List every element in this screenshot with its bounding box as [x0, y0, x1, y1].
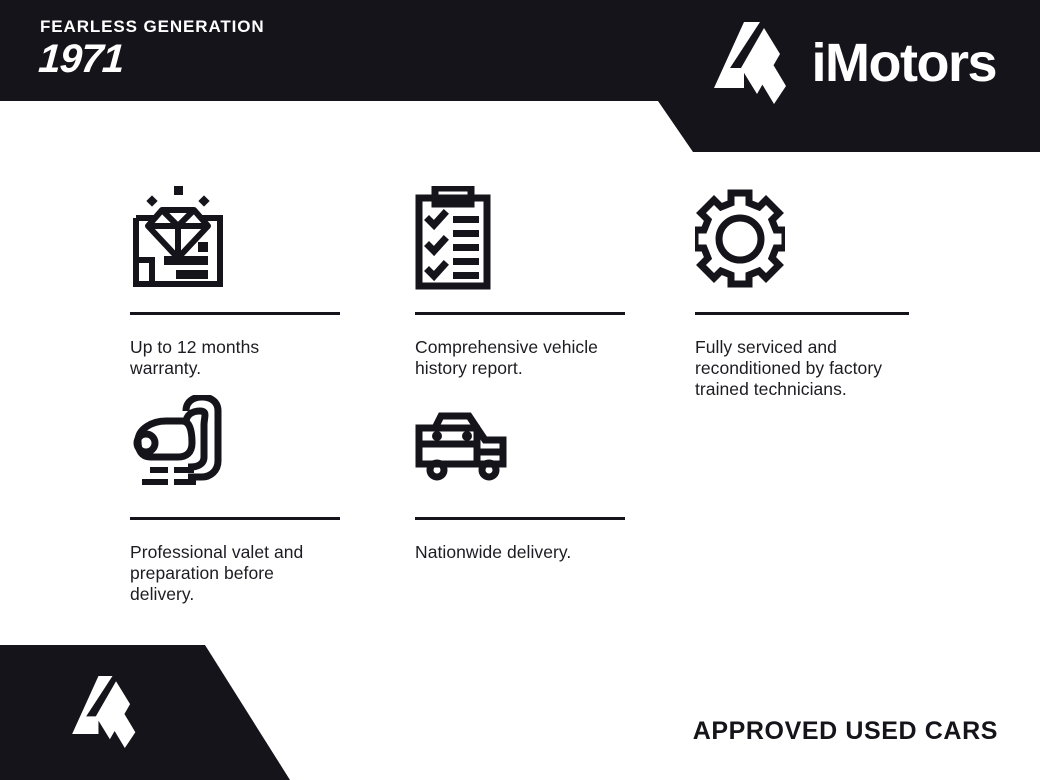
clipboard-checklist-icon: [415, 180, 695, 290]
feature-label: Professional valet and preparation befor…: [130, 542, 335, 605]
feature-divider: [695, 312, 909, 315]
imotors-chevron-logo-icon: [714, 22, 798, 104]
brand-wordmark: iMotors: [812, 36, 997, 90]
feature-label: Up to 12 months warranty.: [130, 337, 335, 379]
campaign-lockup: FEARLESS GENERATION 1971: [40, 18, 265, 79]
feature-item-serviced: Fully serviced and reconditioned by fact…: [695, 180, 930, 385]
campaign-headline: FEARLESS GENERATION: [40, 18, 265, 35]
footer-banner: [0, 645, 300, 780]
feature-grid: Up to 12 months warranty.: [130, 180, 930, 590]
campaign-year: 1971: [37, 39, 264, 79]
brand-logo-lockup[interactable]: iMotors: [714, 22, 997, 104]
gear-icon: [695, 180, 930, 290]
feature-item-warranty: Up to 12 months warranty.: [130, 180, 415, 385]
feature-item-history-report: Comprehensive vehicle history report.: [415, 180, 695, 385]
feature-divider: [415, 517, 625, 520]
feature-item-valet: Professional valet and preparation befor…: [130, 385, 415, 590]
footer-tagline: APPROVED USED CARS: [693, 717, 998, 746]
feature-item-delivery: Nationwide delivery.: [415, 385, 695, 590]
feature-label: Comprehensive vehicle history report.: [415, 337, 620, 379]
feature-label: Fully serviced and reconditioned by fact…: [695, 337, 900, 400]
feature-label: Nationwide delivery.: [415, 542, 620, 563]
feature-divider: [130, 517, 340, 520]
vacuum-cleaner-icon: [130, 385, 415, 495]
feature-divider: [130, 312, 340, 315]
feature-divider: [415, 312, 625, 315]
footer-imotors-chevron-logo-icon: [72, 676, 146, 748]
warranty-gem-certificate-icon: [130, 180, 415, 290]
car-transporter-truck-icon: [415, 385, 695, 495]
